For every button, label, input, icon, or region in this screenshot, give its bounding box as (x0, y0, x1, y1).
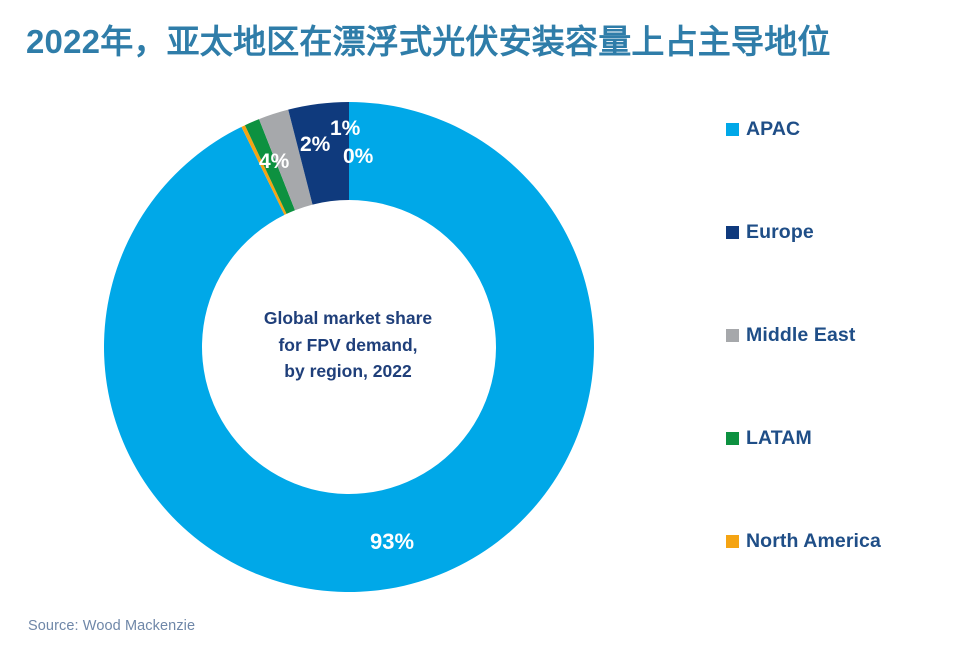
legend-swatch-apac (726, 123, 739, 136)
donut-slice-group (104, 102, 594, 592)
legend-swatch-north-america (726, 535, 739, 548)
donut-chart-svg (100, 100, 598, 594)
legend-item-latam[interactable]: LATAM (726, 425, 812, 451)
legend-label-latam: LATAM (746, 427, 812, 450)
legend-item-north-america[interactable]: North America (726, 528, 881, 554)
legend-swatch-europe (726, 226, 739, 239)
legend-label-europe: Europe (746, 221, 814, 244)
donut-chart-plot-area (100, 100, 598, 594)
donut-slice-apac[interactable] (104, 102, 594, 592)
legend-item-middle-east[interactable]: Middle East (726, 322, 855, 348)
legend-swatch-middle-east (726, 329, 739, 342)
legend-label-north-america: North America (746, 530, 881, 553)
legend-item-europe[interactable]: Europe (726, 219, 814, 245)
chart-legend: APACEuropeMiddle EastLATAMNorth America (726, 116, 946, 568)
legend-swatch-latam (726, 432, 739, 445)
legend-item-apac[interactable]: APAC (726, 116, 800, 142)
chart-title: 2022年，亚太地区在漂浮式光伏安装容量上占主导地位 (26, 22, 936, 62)
chart-figure: 2022年，亚太地区在漂浮式光伏安装容量上占主导地位 Global market… (0, 0, 954, 655)
legend-label-apac: APAC (746, 118, 800, 141)
legend-label-middle-east: Middle East (746, 324, 855, 347)
source-note: Source: Wood Mackenzie (28, 618, 195, 634)
